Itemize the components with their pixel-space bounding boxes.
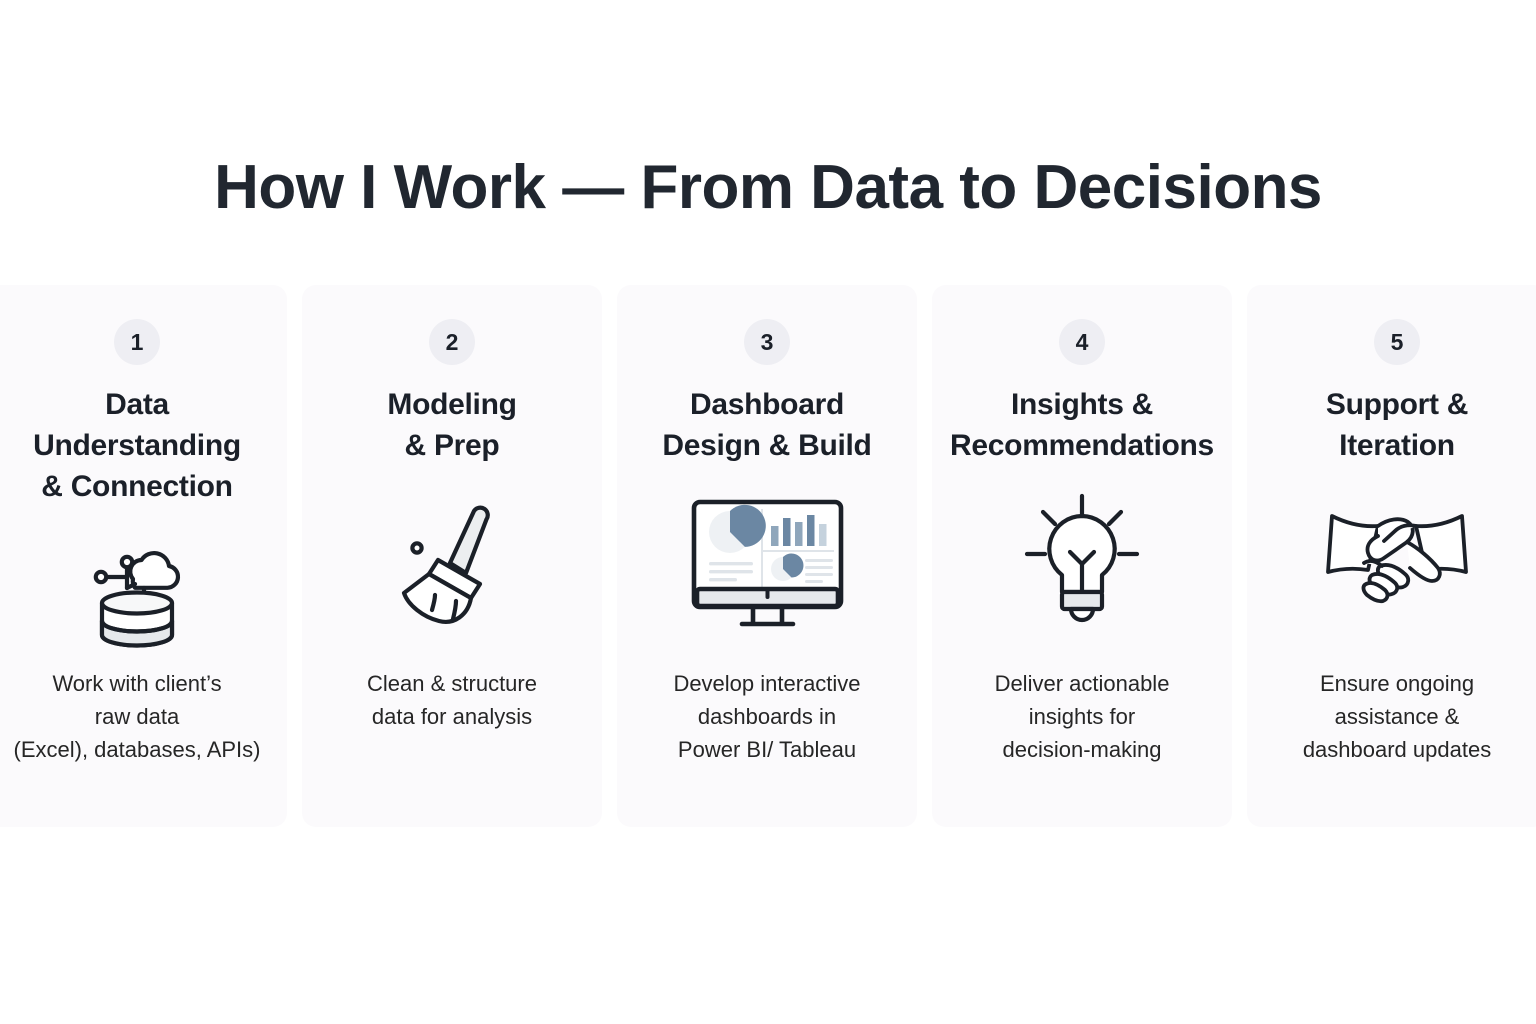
step-description-4: Deliver actionable insights for decision… [932, 667, 1232, 766]
monitor-dashboard-icon [617, 488, 917, 638]
step-number-badge-1: 1 [114, 319, 160, 365]
step-heading-4: Insights & Recommendations [932, 384, 1232, 466]
page-title: How I Work — From Data to Decisions [0, 152, 1536, 223]
step-heading-5: Support & Iteration [1247, 384, 1536, 466]
database-cloud-icon [0, 530, 287, 650]
step-description-5: Ensure ongoing assistance & dashboard up… [1247, 667, 1536, 766]
step-card-4[interactable]: 4 Insights & Recommendations [932, 285, 1232, 827]
step-number-badge-4: 4 [1059, 319, 1105, 365]
step-card-1[interactable]: 1 Data Understanding & Connection [0, 285, 287, 827]
step-number-badge-2: 2 [429, 319, 475, 365]
step-card-3[interactable]: 3 Dashboard Design & Build [617, 285, 917, 827]
step-heading-2: Modeling & Prep [302, 384, 602, 466]
slide-root: How I Work — From Data to Decisions 1 Da… [0, 0, 1536, 1024]
process-steps-row: 1 Data Understanding & Connection [0, 285, 1536, 827]
step-description-2: Clean & structure data for analysis [302, 667, 602, 733]
step-number-badge-3: 3 [744, 319, 790, 365]
handshake-icon [1247, 490, 1536, 620]
step-heading-3: Dashboard Design & Build [617, 384, 917, 466]
step-heading-1: Data Understanding & Connection [0, 384, 287, 507]
lightbulb-icon [932, 483, 1232, 633]
step-description-1: Work with client’s raw data (Excel), dat… [0, 667, 287, 766]
step-card-2[interactable]: 2 Modeling & Prep [302, 285, 602, 827]
step-number-badge-5: 5 [1374, 319, 1420, 365]
broom-icon [302, 488, 602, 638]
step-description-3: Develop interactive dashboards in Power … [617, 667, 917, 766]
step-card-5[interactable]: 5 Support & Iteration [1247, 285, 1536, 827]
